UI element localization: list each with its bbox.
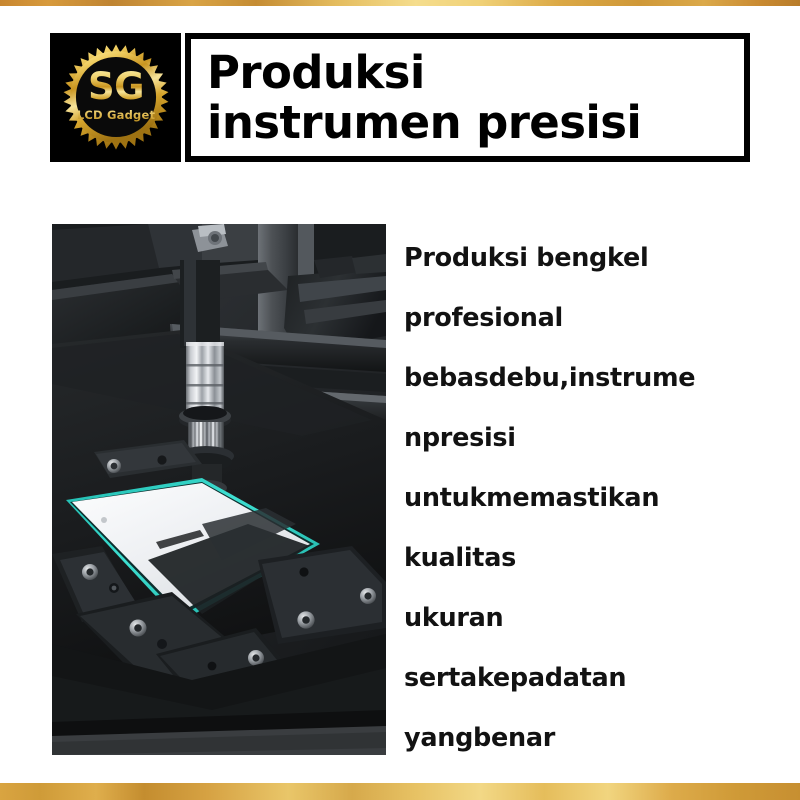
header-banner: SG LCD Gadget Produksi instrumen presisi <box>50 33 750 162</box>
description-line: sertakepadatan <box>404 648 764 708</box>
description-line: ukuran <box>404 588 764 648</box>
description-line: npresisi <box>404 408 764 468</box>
precision-machine-illustration <box>52 224 386 755</box>
description-line: bebasdebu,instrume <box>404 348 764 408</box>
page-title-line-1: Produksi <box>207 48 744 98</box>
description-line: yangbenar <box>404 708 764 768</box>
description-line: untukmemastikan <box>404 468 764 528</box>
title-box: Produksi instrumen presisi <box>185 33 750 162</box>
description-line: Produksi bengkel <box>404 228 764 288</box>
bottom-gold-bar <box>0 783 800 800</box>
description-line: kualitas <box>404 528 764 588</box>
description-line: profesional <box>404 288 764 348</box>
product-photo <box>52 224 386 755</box>
sg-logo-badge: SG LCD Gadget <box>62 43 170 151</box>
top-gold-bar <box>0 0 800 6</box>
page-title-line-2: instrumen presisi <box>207 98 744 148</box>
logo-container: SG LCD Gadget <box>50 33 181 162</box>
description-text-block: Produksi bengkel profesional bebasdebu,i… <box>404 228 764 768</box>
badge-ring-icon <box>62 43 170 151</box>
